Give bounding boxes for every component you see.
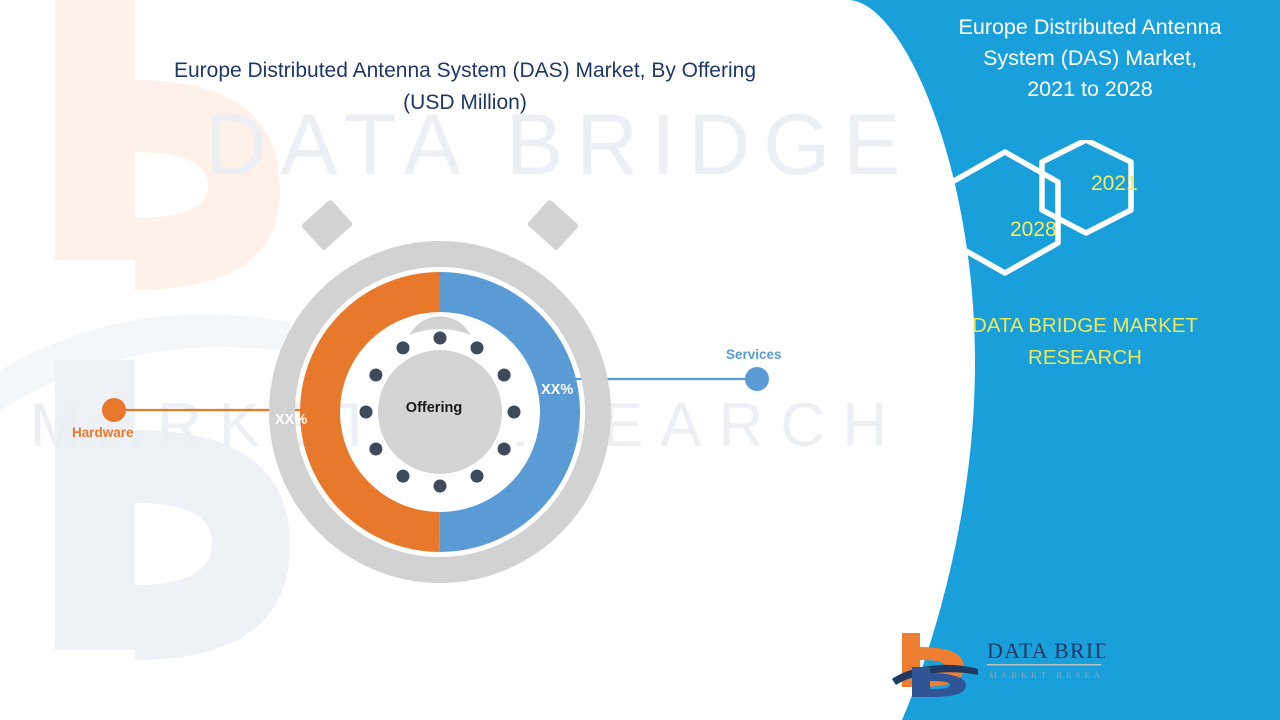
panel-title: Europe Distributed Antenna System (DAS) … [895,12,1280,105]
page-title: Europe Distributed Antenna System (DAS) … [60,55,870,119]
panel-brand-line-2: RESEARCH [905,342,1265,374]
callout-label-hardware: Hardware [72,425,134,440]
page-title-line-1: Europe Distributed Antenna System (DAS) … [60,55,870,87]
hexagon-year-2021: 2021 [1091,172,1138,196]
dbmr-logo-wordmark: DATA BRIDGE [987,638,1105,663]
callout-label-services: Services [726,347,782,362]
panel-title-line-3: 2021 to 2028 [895,74,1280,105]
panel-brand-name: DATA BRIDGE MARKET RESEARCH [905,310,1265,374]
page-title-line-2: (USD Million) [60,87,870,119]
hexagon-badges: 2021 2028 [895,140,1275,290]
hardware-percent-label: XX% [275,412,307,428]
panel-brand-line-1: DATA BRIDGE MARKET [905,310,1265,342]
donut-center-label: Offering [334,400,534,416]
panel-content: Europe Distributed Antenna System (DAS) … [905,0,1280,720]
stopwatch-donut-chart [245,155,635,595]
hexagon-outlines [895,140,1275,290]
services-percent-label: XX% [541,382,573,398]
panel-title-line-2: System (DAS) Market, [895,43,1280,74]
infographic-canvas: DATA BRIDGE MARKET RESEARCH Europe Distr… [0,0,1280,720]
panel-title-line-1: Europe Distributed Antenna [895,12,1280,43]
hexagon-year-2028: 2028 [1010,218,1057,242]
dbmr-logo: DATA BRIDGE MARKET RESEARCH [890,625,1105,697]
dbmr-logo-tagline: MARKET RESEARCH [989,670,1105,680]
